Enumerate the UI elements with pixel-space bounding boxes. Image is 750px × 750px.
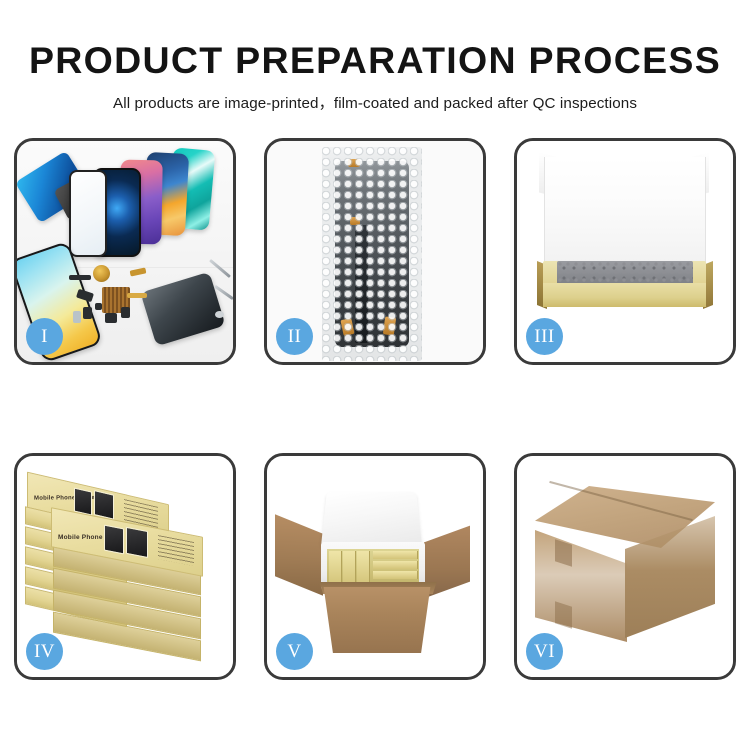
tempered-glass-sheet <box>69 170 107 257</box>
inner-cavity <box>327 549 419 587</box>
box-spec-text-front <box>158 535 194 566</box>
step-badge-5: V <box>276 633 313 670</box>
bubble-texture <box>322 147 422 361</box>
box-screen-thumb-front-2 <box>126 527 148 558</box>
inner-box-1 <box>329 551 342 585</box>
box-screen-thumb-front-1 <box>104 525 124 555</box>
yellow-tray-front-wall <box>543 283 706 307</box>
vibration-motor-part <box>93 265 110 282</box>
carton-body <box>319 587 435 653</box>
process-step-panel-5: V <box>264 453 486 680</box>
small-screw-part <box>215 311 224 318</box>
speaker-part <box>83 307 92 319</box>
page-subtitle: All products are image-printed，film-coat… <box>0 80 750 113</box>
sim-tray-part <box>73 311 81 323</box>
step-badge-3: III <box>526 318 563 355</box>
process-step-panel-2: II <box>264 138 486 365</box>
taptic-engine-part <box>105 313 117 323</box>
battery-connector-part <box>69 275 91 280</box>
white-box-back-wall <box>544 157 706 277</box>
bubble-wrap-bag <box>322 147 422 361</box>
step-badge-4: IV <box>26 633 63 670</box>
process-step-panel-4: Mobile Phone Spare Parts Mobile Phone Sp… <box>14 453 236 680</box>
inner-box-2 <box>343 551 356 585</box>
inner-box-5 <box>373 561 418 569</box>
process-step-panel-6: VI <box>514 453 736 680</box>
earpiece-part <box>121 307 130 318</box>
screw-set-part <box>95 303 102 310</box>
step-badge-6: VI <box>526 633 563 670</box>
process-step-grid: I II <box>14 138 736 678</box>
page-header: PRODUCT PREPARATION PROCESS All products… <box>0 0 750 113</box>
inner-box-4 <box>373 551 418 559</box>
gold-contact-strip-part <box>127 293 147 298</box>
inner-box-3 <box>357 551 370 585</box>
step-badge-2: II <box>276 318 313 355</box>
process-step-panel-1: I <box>14 138 236 365</box>
page-title: PRODUCT PREPARATION PROCESS <box>0 0 750 80</box>
inner-box-6 <box>373 571 418 579</box>
process-step-panel-3: III <box>514 138 736 365</box>
foam-lid <box>321 492 422 548</box>
step-badge-1: I <box>26 318 63 355</box>
